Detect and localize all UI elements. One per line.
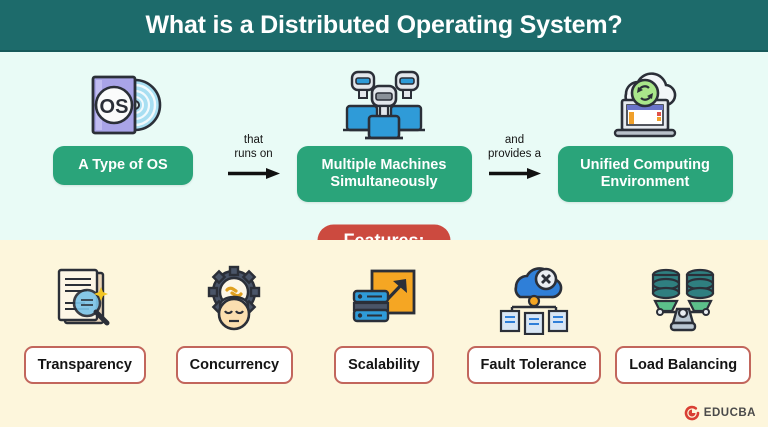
os-disc-icon: OS (83, 58, 163, 146)
infographic-page: What is a Distributed Operating System? (0, 0, 768, 427)
arrow-right-icon (487, 167, 543, 180)
feature-load-balancing[interactable]: Load Balancing (608, 262, 758, 384)
feature-scalability[interactable]: Scalability (309, 262, 459, 384)
header-banner: What is a Distributed Operating System? (0, 0, 768, 52)
server-arrow-up-icon (348, 262, 420, 338)
robots-icon (339, 58, 429, 146)
page-title: What is a Distributed Operating System? (145, 11, 622, 40)
flow-row: OS A Type of OS that runs on (0, 58, 768, 202)
database-balance-scale-icon (647, 262, 719, 338)
svg-text:OS: OS (100, 96, 129, 118)
flow-node-unified-computing[interactable]: Unified Computing Environment (558, 58, 733, 202)
educba-logo-text: EDUCBA (704, 407, 756, 419)
flow-label-multiple-machines: Multiple Machines Simultaneously (297, 146, 472, 202)
cloud-laptop-sync-icon (600, 58, 690, 146)
feature-fault-tolerance[interactable]: Fault Tolerance (459, 262, 609, 384)
feature-label-scalability: Scalability (334, 346, 434, 384)
cloud-error-nodes-icon (498, 262, 570, 338)
flow-label-unified-computing: Unified Computing Environment (558, 146, 733, 202)
educba-logo[interactable]: EDUCBA (684, 405, 756, 421)
connector-line-1: that (234, 134, 272, 148)
connector-line-2: provides a (488, 148, 541, 162)
flow-label-a-type-of-os: A Type of OS (53, 146, 193, 185)
flow-node-a-type-of-os[interactable]: OS A Type of OS (36, 58, 211, 185)
flow-section: OS A Type of OS that runs on (0, 52, 768, 240)
feature-transparency[interactable]: Transparency (10, 262, 160, 384)
feature-label-fault-tolerance: Fault Tolerance (467, 346, 601, 384)
feature-concurrency[interactable]: Concurrency (160, 262, 310, 384)
connector-line-1: and (488, 134, 541, 148)
connector-label-1: that runs on (234, 134, 272, 162)
educba-e-icon (684, 405, 700, 421)
arrow-right-icon (226, 167, 282, 180)
connector-and-provides-a: and provides a (472, 58, 558, 180)
feature-label-load-balancing: Load Balancing (615, 346, 751, 384)
features-section: Transparency (0, 240, 768, 427)
connector-label-2: and provides a (488, 134, 541, 162)
connector-line-2: runs on (234, 148, 272, 162)
feature-label-transparency: Transparency (24, 346, 146, 384)
head-gear-chain-icon (198, 262, 270, 338)
document-magnifier-icon (49, 262, 121, 338)
feature-label-concurrency: Concurrency (176, 346, 293, 384)
connector-that-runs-on: that runs on (211, 58, 297, 180)
flow-node-multiple-machines[interactable]: Multiple Machines Simultaneously (297, 58, 472, 202)
